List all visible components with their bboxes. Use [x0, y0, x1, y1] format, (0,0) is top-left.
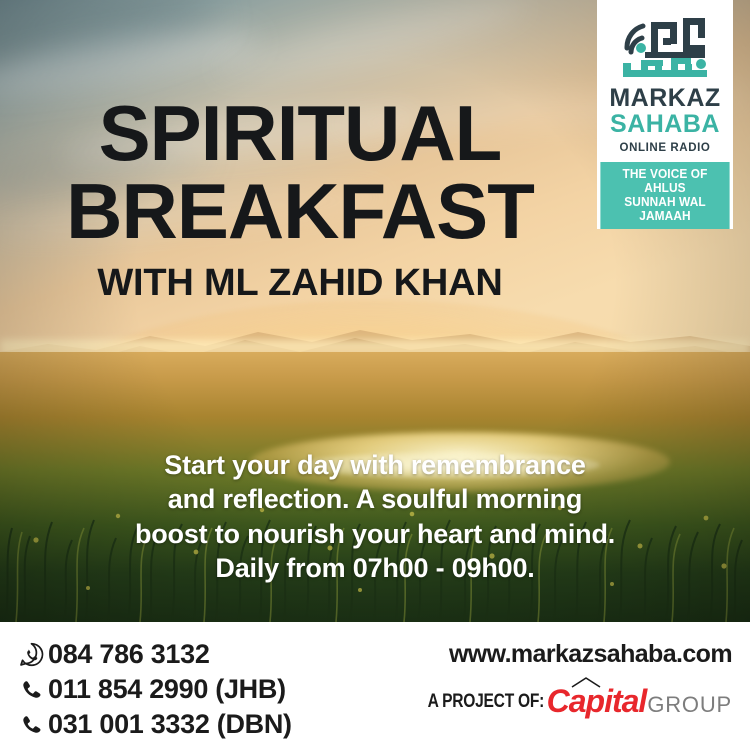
logo-tagline-banner: THE VOICE OF AHLUS SUNNAH WAL JAMAAH	[600, 162, 729, 229]
body-line-3: boost to nourish your heart and mind.	[0, 517, 750, 551]
website-url[interactable]: www.markazsahaba.com	[402, 640, 732, 669]
sponsor-line: A PROJECT OF: Capital GROUP	[402, 683, 732, 720]
contact-list: 084 786 3132 011 854 2990 (JHB) 031 001 …	[14, 638, 292, 743]
body-line-4: Daily from 07h00 - 09h00.	[0, 551, 750, 585]
project-of-label: A PROJECT OF:	[428, 691, 545, 713]
headline-line-1: SPIRITUAL	[0, 96, 600, 170]
body-line-1: Start your day with remembrance	[0, 448, 750, 482]
capital-group-logo[interactable]: Capital GROUP	[547, 683, 732, 720]
logo-descriptor: ONLINE RADIO	[597, 142, 733, 162]
headline-subtitle: WITH ML ZAHID KHAN	[0, 262, 600, 305]
headline-block: SPIRITUAL BREAKFAST WITH ML ZAHID KHAN	[0, 96, 600, 305]
contact-row[interactable]: 011 854 2990 (JHB)	[14, 673, 292, 705]
whatsapp-icon	[14, 641, 48, 668]
contact-row[interactable]: 084 786 3132	[14, 638, 292, 670]
contact-row[interactable]: 031 001 3332 (DBN)	[14, 708, 292, 740]
wifi-broadcast-arabic-markaz-icon	[597, 8, 733, 86]
phone-icon	[14, 677, 48, 702]
footer-bar: 084 786 3132 011 854 2990 (JHB) 031 001 …	[0, 622, 750, 750]
poster-canvas: MARKAZ SAHABA ONLINE RADIO THE VOICE OF …	[0, 0, 750, 750]
roof-outline-icon	[571, 676, 601, 688]
sponsor-suffix: GROUP	[647, 692, 732, 718]
logo-name-sahaba: SAHABA	[597, 112, 733, 137]
body-line-2: and reflection. A soulful morning	[0, 482, 750, 516]
contact-number: 031 001 3332 (DBN)	[48, 709, 292, 740]
body-copy-block: Start your day with remembrance and refl…	[0, 448, 750, 585]
station-logo-card: MARKAZ SAHABA ONLINE RADIO THE VOICE OF …	[597, 0, 733, 229]
phone-icon	[14, 712, 48, 737]
contact-number: 084 786 3132	[48, 639, 210, 670]
logo-name-markaz: MARKAZ	[597, 86, 733, 111]
contact-number: 011 854 2990 (JHB)	[48, 674, 286, 705]
headline-line-2: BREAKFAST	[0, 174, 600, 248]
tagline-line-2: SUNNAH WAL JAMAAH	[602, 195, 727, 223]
tagline-line-1: THE VOICE OF AHLUS	[602, 167, 727, 195]
web-and-sponsor-block: www.markazsahaba.com A PROJECT OF: Capit…	[402, 640, 732, 720]
sponsor-name: Capital	[547, 683, 647, 720]
